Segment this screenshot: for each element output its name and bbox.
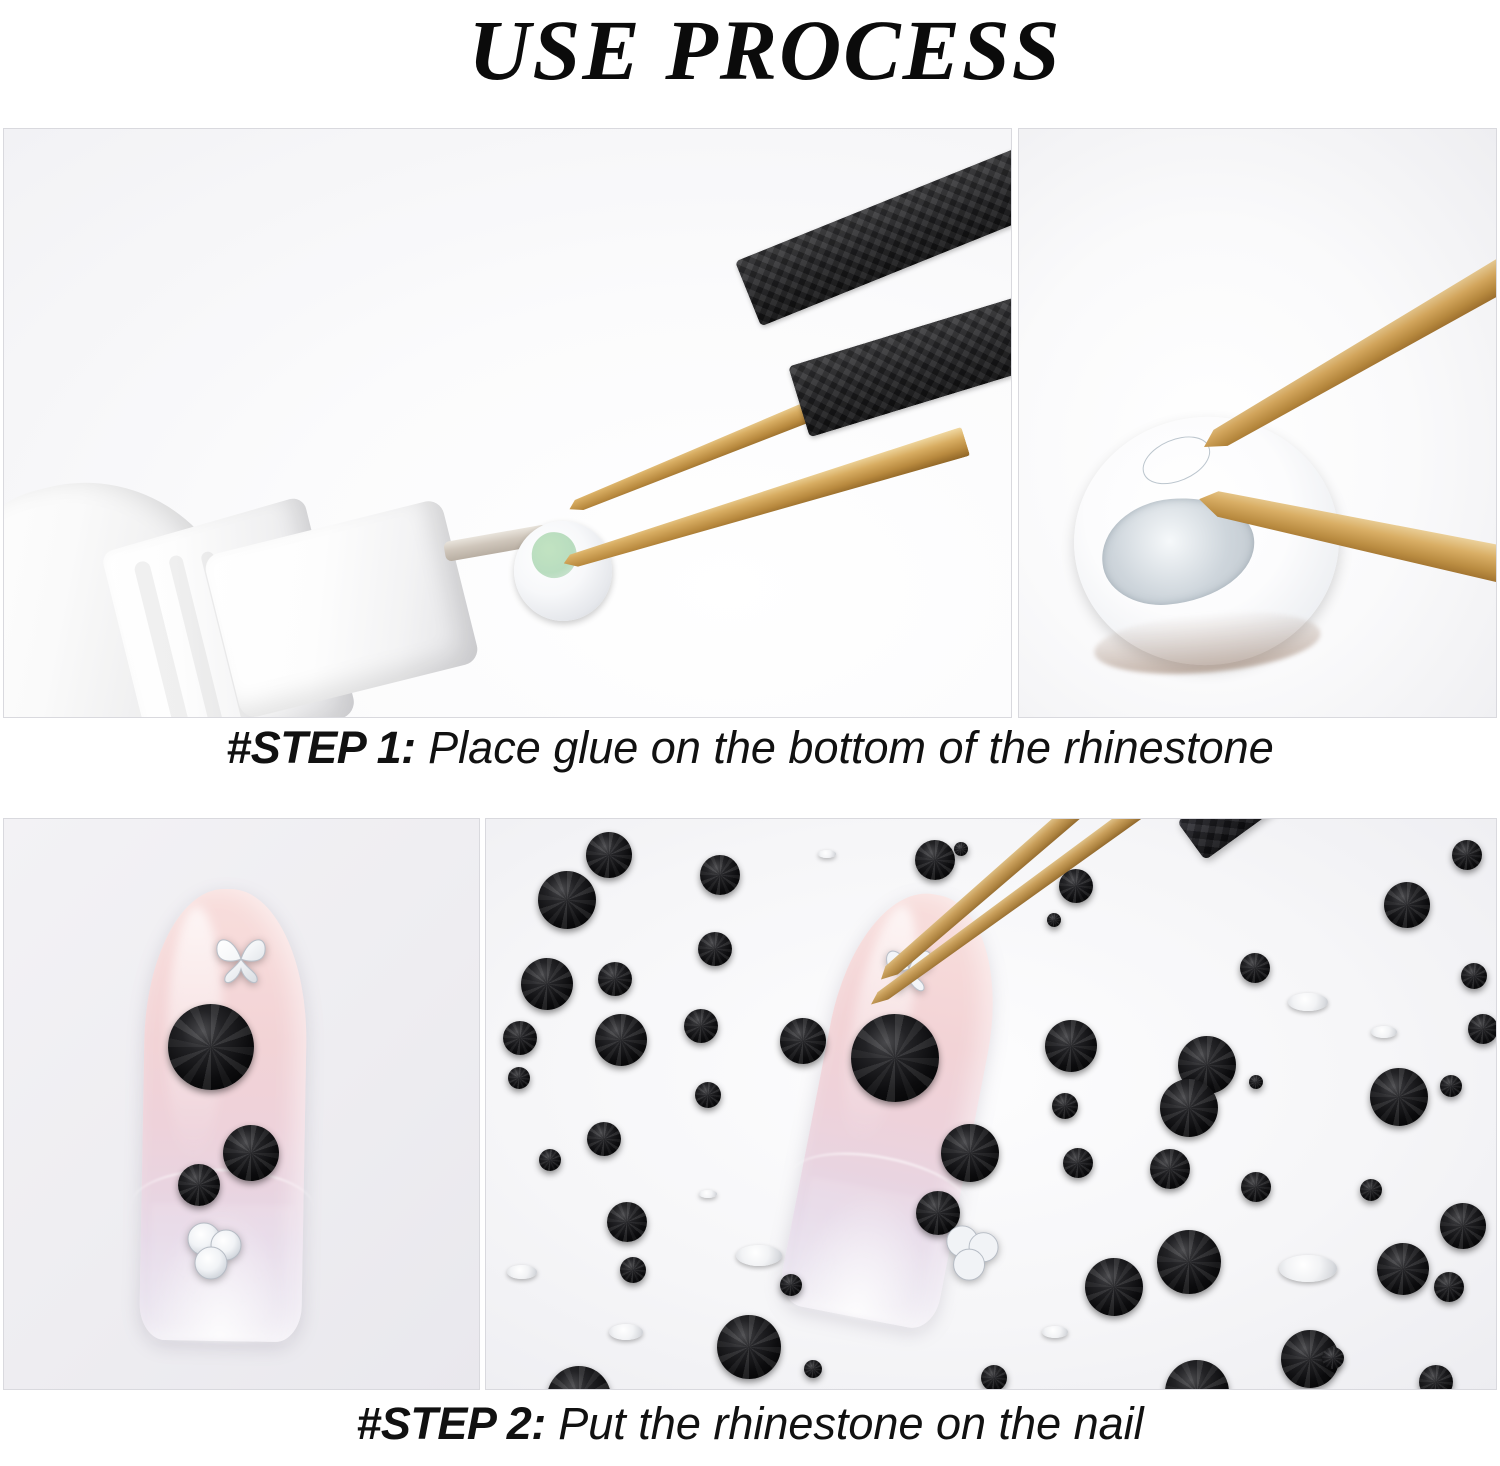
- silver-flatback-rhinestone: [1279, 1255, 1337, 1282]
- black-rhinestone: [607, 1202, 647, 1242]
- black-rhinestone: [700, 855, 740, 895]
- black-rhinestone: [698, 932, 732, 966]
- black-rhinestone: [587, 1122, 621, 1156]
- black-rhinestone: [1240, 953, 1270, 983]
- step-2-label: #STEP 2:: [356, 1398, 545, 1449]
- black-rhinestone: [954, 842, 968, 856]
- black-rhinestone: [1085, 1258, 1143, 1316]
- black-rhinestone: [1047, 913, 1061, 927]
- black-rhinestone-large: [851, 1014, 939, 1102]
- black-rhinestone: [1452, 840, 1482, 870]
- black-rhinestone: [684, 1009, 718, 1043]
- black-rhinestone: [1059, 869, 1093, 903]
- black-rhinestone: [717, 1315, 781, 1379]
- silver-flatback-rhinestone: [736, 1245, 782, 1266]
- black-rhinestone: [1360, 1179, 1382, 1201]
- black-rhinestone: [695, 1082, 721, 1108]
- step-1-label: #STEP 1:: [226, 722, 415, 773]
- black-rhinestone: [1241, 1172, 1271, 1202]
- black-rhinestone: [1461, 963, 1487, 989]
- silver-flatback-rhinestone: [1042, 1326, 1068, 1338]
- silver-flatback-rhinestone: [1371, 1026, 1397, 1038]
- black-rhinestone: [1150, 1149, 1190, 1189]
- black-rhinestone: [804, 1360, 822, 1378]
- glued-rhinestone-closeup-photo: [1018, 128, 1497, 718]
- clear-flower-rhinestone-cluster: [941, 1224, 1001, 1282]
- glue-application-photo: [3, 128, 1012, 718]
- black-rhinestone: [1377, 1243, 1429, 1295]
- silver-flatback-rhinestone: [699, 1190, 717, 1198]
- black-rhinestone: [1052, 1093, 1078, 1119]
- placing-rhinestone-photo: [485, 818, 1497, 1390]
- black-rhinestone: [1370, 1068, 1428, 1126]
- black-rhinestone: [586, 832, 632, 878]
- black-rhinestone: [595, 1014, 647, 1066]
- black-rhinestone: [1249, 1075, 1263, 1089]
- black-rhinestone: [1063, 1148, 1093, 1178]
- step-1-text: Place glue on the bottom of the rhinesto…: [416, 722, 1274, 773]
- step-2-caption: #STEP 2: Put the rhinestone on the nail: [0, 1398, 1500, 1450]
- photo-background: [486, 819, 1496, 1389]
- glue-highlight: [1136, 427, 1218, 493]
- black-rhinestone: [503, 1021, 537, 1055]
- butterfly-rhinestone: [211, 929, 271, 985]
- black-rhinestone: [620, 1257, 646, 1283]
- black-rhinestone: [1045, 1020, 1097, 1072]
- black-rhinestone: [1440, 1203, 1486, 1249]
- silver-flatback-rhinestone: [609, 1324, 643, 1340]
- step-2-text: Put the rhinestone on the nail: [546, 1398, 1144, 1449]
- black-rhinestone: [1434, 1272, 1464, 1302]
- black-rhinestone: [1468, 1014, 1497, 1044]
- black-rhinestone: [780, 1274, 802, 1296]
- black-rhinestone: [508, 1067, 530, 1089]
- page-title: USE PROCESS: [0, 2, 1500, 98]
- black-rhinestone-medium: [223, 1125, 279, 1181]
- finished-nail-photo: [3, 818, 480, 1390]
- black-rhinestone: [1440, 1075, 1462, 1097]
- silver-flatback-rhinestone: [818, 850, 836, 858]
- black-rhinestone: [598, 962, 632, 996]
- black-rhinestone: [521, 958, 573, 1010]
- step-1-caption: #STEP 1: Place glue on the bottom of the…: [0, 722, 1500, 774]
- clear-flower-rhinestone-cluster: [182, 1221, 244, 1281]
- use-process-infographic: USE PROCESS: [0, 0, 1500, 1466]
- black-rhinestone: [1160, 1079, 1218, 1137]
- silver-flatback-rhinestone: [1288, 993, 1328, 1011]
- black-rhinestone: [1157, 1230, 1221, 1294]
- black-rhinestone: [1384, 882, 1430, 928]
- black-rhinestone: [981, 1365, 1007, 1390]
- black-rhinestone: [538, 871, 596, 929]
- black-rhinestone: [780, 1018, 826, 1064]
- black-rhinestone: [915, 840, 955, 880]
- black-rhinestone-small: [178, 1164, 220, 1206]
- black-rhinestone: [539, 1149, 561, 1171]
- black-rhinestone-large: [168, 1004, 254, 1090]
- black-rhinestone-medium: [941, 1124, 999, 1182]
- black-rhinestone: [1322, 1347, 1344, 1369]
- silver-flatback-rhinestone: [507, 1265, 537, 1279]
